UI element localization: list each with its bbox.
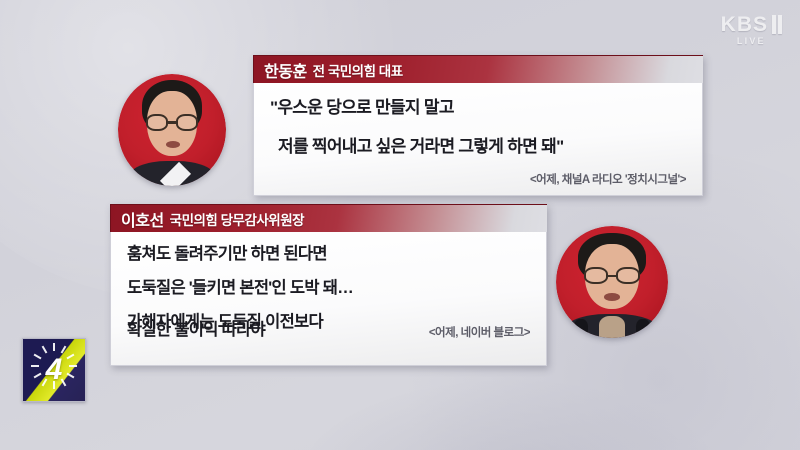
avatar-mouth: [604, 293, 620, 301]
kbs-logo: KBS LIVE: [721, 14, 782, 46]
quote-last-line-row: 확실한 불이익 따라야 <어제, 네이버 블로그>: [127, 316, 530, 340]
quote-line: 확실한 불이익 따라야: [127, 316, 265, 340]
avatar-mouth: [166, 141, 180, 148]
broadcast-frame: KBS LIVE 4 한동훈: [0, 0, 800, 450]
quote-line: 저를 찍어내고 싶은 거라면 그렇게 하면 돼": [270, 132, 686, 157]
speaker-title: 국민의힘 당무감사위원장: [170, 209, 304, 229]
quote-card-lee-ho-sun: 이호선 국민의힘 당무감사위원장 훔쳐도 돌려주기만 하면 된다면 도둑질은 '…: [110, 204, 547, 366]
speaker-title: 전 국민의힘 대표: [313, 60, 403, 80]
background-glow-bottom-center: [300, 380, 720, 450]
quote-source: <어제, 네이버 블로그>: [429, 324, 530, 340]
kbs-wordmark: KBS: [721, 14, 768, 35]
kbs-live-label: LIVE: [721, 36, 782, 46]
avatar-lee-ho-sun: [556, 226, 668, 338]
quote-card-header: 한동훈 전 국민의힘 대표: [253, 55, 703, 83]
avatar-collar: [599, 316, 626, 338]
glasses-icon: [146, 114, 198, 131]
quote-line: "우스운 당으로 만들지 말고: [270, 93, 686, 118]
quote-line: 훔쳐도 돌려주기만 하면 된다면: [127, 240, 530, 264]
microphone-icon: [574, 319, 589, 338]
quote-card-body: "우스운 당으로 만들지 말고 저를 찍어내고 싶은 거라면 그렇게 하면 돼"…: [253, 83, 703, 196]
channel-4-clock-logo: 4: [22, 338, 86, 402]
glasses-icon: [584, 267, 640, 284]
channel-number: 4: [23, 339, 85, 401]
speaker-name: 한동훈: [264, 58, 307, 82]
quote-source: <어제, 채널A 라디오 '정치시그널'>: [270, 171, 686, 187]
quote-card-han-dong-hoon: 한동훈 전 국민의힘 대표 "우스운 당으로 만들지 말고 저를 찍어내고 싶은…: [253, 55, 703, 196]
speaker-name: 이호선: [121, 207, 164, 231]
quote-line: 도둑질은 '들키면 본전'인 도박 돼…: [127, 274, 530, 298]
avatar-han-dong-hoon: [118, 74, 226, 186]
quote-card-header: 이호선 국민의힘 당무감사위원장: [110, 204, 547, 232]
microphone-icon: [636, 319, 651, 338]
kbs-logo-row: KBS: [721, 14, 782, 35]
kbs-bars-icon: [772, 15, 782, 34]
quote-card-body: 훔쳐도 돌려주기만 하면 된다면 도둑질은 '들키면 본전'인 도박 돼… 가해…: [110, 232, 547, 366]
